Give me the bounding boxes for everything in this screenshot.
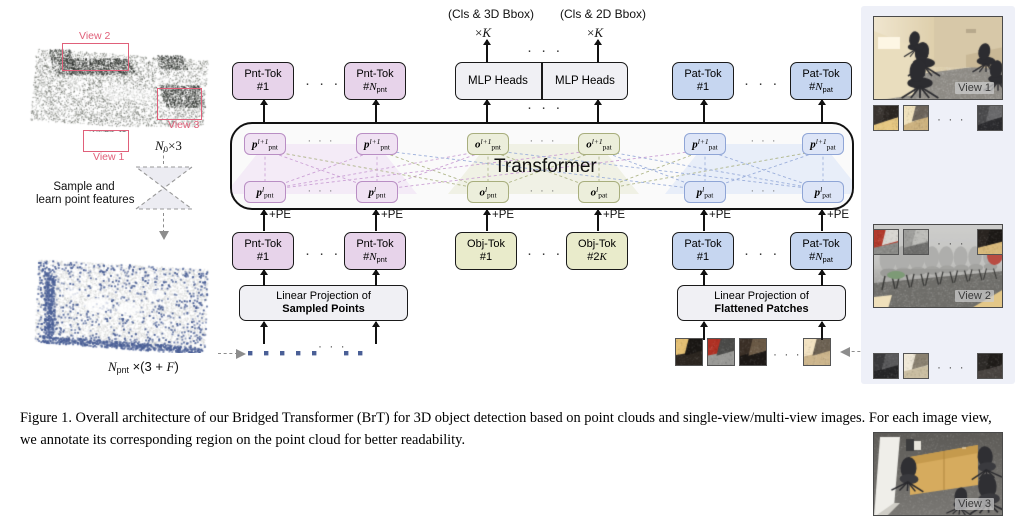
arrow-xf-to-pnttok-1 (263, 100, 265, 122)
pe-label-6: +PE (827, 209, 849, 222)
bottom-token-obj-2K-index: #2K (587, 251, 607, 264)
pe-label-1: +PE (269, 209, 291, 222)
view-2-patch-ellipsis: · · · (937, 237, 966, 249)
mlp-left-output-label: (Cls & 3D Bbox) (448, 8, 534, 22)
bottom-pnt-ellipsis: · · · (305, 246, 341, 261)
pe-arrow-2 (375, 210, 377, 231)
arrow-mlp-left-out (486, 40, 488, 62)
view-1-patch-1 (873, 105, 899, 131)
arrow-proj-to-pat1 (703, 270, 705, 286)
svg-text:· · ·: · · · (750, 135, 777, 147)
transformer-lower-token-4: olpat (578, 181, 620, 203)
pe-arrow-3 (486, 210, 488, 231)
sampled-points-row (246, 346, 366, 360)
sample-text-line1: Sample and (36, 181, 132, 194)
view-1-patch-ellipsis: · · · (937, 113, 966, 125)
view2-region-box (62, 43, 129, 71)
sampled-point-cloud (28, 243, 218, 353)
view-3-patch-3 (977, 353, 1003, 379)
arrow-xf-to-mlp-left (486, 100, 488, 122)
pe-arrow-6 (821, 210, 823, 231)
linear-projection-points[interactable]: Linear Projection of Sampled Points (239, 285, 408, 321)
view3-region-box (157, 88, 202, 120)
sample-text: Sample and learn point features (36, 181, 132, 207)
view-3-patch-2 (903, 353, 929, 379)
bottom-token-obj-1[interactable]: Obj-Tok #1 (455, 232, 517, 270)
arrow-into-proj-points-2 (375, 322, 377, 344)
transformer-upper-token-3: ol+1pnt (467, 133, 509, 155)
mlp-top-ellipsis: · · · (527, 43, 563, 58)
pe-arrow-1 (263, 210, 265, 231)
svg-text:· · ·: · · · (750, 185, 777, 197)
pe-arrow-5 (703, 210, 705, 231)
bottom-token-pat-N[interactable]: Pat-Tok #Npat (790, 232, 852, 270)
svg-text:· · ·: · · · (529, 185, 556, 197)
bottom-token-pat-1[interactable]: Pat-Tok #1 (672, 232, 734, 270)
input-patch-3 (739, 338, 767, 366)
transformer-lower-token-3: olpnt (467, 181, 509, 203)
arrow-into-proj-patches-2 (821, 322, 823, 340)
bottom-token-obj-1-index: #1 (480, 251, 492, 264)
transformer-upper-token-1: pl+1pnt (244, 133, 286, 155)
mlp-bottom-ellipsis: · · · (527, 100, 563, 115)
transformer-lower-token-2: plpnt (356, 181, 398, 203)
linear-projection-points-line2: Sampled Points (282, 303, 365, 316)
bottom-token-pnt-1[interactable]: Pnt-Tok #1 (232, 232, 294, 270)
bottom-token-pnt-N-label: Pnt-Tok (356, 238, 393, 251)
bottom-token-pat-1-label: Pat-Tok (684, 238, 721, 251)
pe-label-2: +PE (381, 209, 403, 222)
linear-projection-points-line1: Linear Projection of (276, 290, 371, 303)
pe-label-5: +PE (709, 209, 731, 222)
arrow-proj-to-pnt1 (263, 270, 265, 286)
figure-caption: Figure 1. Overall architecture of our Br… (20, 408, 1006, 451)
bottom-pat-ellipsis: · · · (744, 246, 780, 261)
top-token-pat-N[interactable]: Pat-Tok #Npat (790, 62, 852, 100)
bottom-obj-ellipsis: · · · (527, 246, 563, 261)
sample-down-arrow (163, 213, 165, 239)
arrow-xf-to-pattok-N (821, 100, 823, 122)
bottom-token-pat-N-label: Pat-Tok (802, 238, 839, 251)
bottom-token-pnt-N[interactable]: Pnt-Tok #Npnt (344, 232, 406, 270)
svg-text:· · ·: · · · (529, 135, 556, 147)
linear-projection-patches[interactable]: Linear Projection of Flattened Patches (677, 285, 846, 321)
top-token-pat-1[interactable]: Pat-Tok #1 (672, 62, 734, 100)
transformer-upper-token-5: pl+1pat (684, 133, 726, 155)
pe-label-4: +PE (603, 209, 625, 222)
view1-region-box (83, 130, 129, 152)
bottom-token-obj-2K[interactable]: Obj-Tok #2K (566, 232, 628, 270)
view-3-tag: View 3 (955, 498, 994, 510)
view-3-patch-1 (873, 353, 899, 379)
arrow-xf-to-pnttok-N (375, 100, 377, 122)
view-1-patch-row: · · · (873, 105, 1003, 131)
bottom-token-pat-1-index: #1 (697, 251, 709, 264)
view-3-patch-ellipsis: · · · (937, 361, 966, 373)
pe-arrow-4 (597, 210, 599, 231)
top-token-pat-1-label: Pat-Tok (684, 68, 721, 81)
bottom-token-obj-1-label: Obj-Tok (467, 238, 505, 251)
view-2-patch-row: · · · (873, 229, 1003, 255)
mlp-heads-group: MLP Heads MLP Heads (455, 62, 628, 100)
top-token-pnt-N-label: Pnt-Tok (356, 68, 393, 81)
points-flow-arrow (218, 353, 244, 355)
sample-hourglass (132, 163, 196, 213)
view-2-tag: View 2 (955, 290, 994, 302)
pe-label-3: +PE (492, 209, 514, 222)
top-token-pnt-1-label: Pnt-Tok (244, 68, 281, 81)
view-2-patch-3 (977, 229, 1003, 255)
top-token-pat-1-index: #1 (697, 81, 709, 94)
view3-region-label: View 3 (168, 119, 199, 131)
top-pat-ellipsis: · · · (744, 76, 780, 91)
bottom-token-pnt-N-index: #Npnt (363, 251, 387, 265)
bottom-shape-label: Npnt ×(3 + F) (108, 360, 179, 375)
transformer-upper-token-4: ol+1pat (578, 133, 620, 155)
transformer-upper-token-2: pl+1pnt (356, 133, 398, 155)
svg-text:· · ·: · · · (307, 135, 334, 147)
input-patch-1 (675, 338, 703, 366)
linear-projection-patches-line1: Linear Projection of (714, 290, 809, 303)
top-pnt-ellipsis: · · · (305, 76, 341, 91)
mlp-heads-right[interactable]: MLP Heads (542, 62, 628, 100)
top-token-pnt-N[interactable]: Pnt-Tok #Npnt (344, 62, 406, 100)
view-3-patch-row: · · · (873, 353, 1003, 379)
mlp-left-multiplier: ×K (475, 26, 491, 41)
transformer-lower-token-1: plpnt (244, 181, 286, 203)
top-token-pnt-1[interactable]: Pnt-Tok #1 (232, 62, 294, 100)
mlp-heads-left[interactable]: MLP Heads (455, 62, 541, 100)
transformer-upper-token-6: pl+1pat (802, 133, 844, 155)
linear-projection-patches-line2: Flattened Patches (714, 303, 808, 316)
transformer-title: Transformer (494, 156, 597, 178)
arrow-xf-to-mlp-right (597, 100, 599, 122)
transformer-lower-token-5: plpat (684, 181, 726, 203)
arrow-into-proj-patches-1 (703, 322, 705, 340)
sample-text-line2: learn point features (36, 194, 132, 207)
arrow-mlp-right-out (597, 40, 599, 62)
input-patch-4 (803, 338, 831, 366)
view-1-tag: View 1 (955, 82, 994, 94)
view-1-patch-3 (977, 105, 1003, 131)
arrow-xf-to-pattok-1 (703, 100, 705, 122)
view-1-image[interactable]: View 1 (873, 16, 1003, 100)
transformer-lower-token-6: plpat (802, 181, 844, 203)
input-patch-ellipsis: · · · (773, 348, 802, 360)
arrow-proj-to-patN (821, 270, 823, 286)
bottom-token-pnt-1-label: Pnt-Tok (244, 238, 281, 251)
views-panel: View 1 · · · View 2 · · · View 3 · · · (861, 6, 1015, 384)
mlp-right-multiplier: ×K (587, 26, 603, 41)
hourglass-top-connector (163, 150, 164, 164)
mlp-right-output-label: (Cls & 2D Bbox) (560, 8, 646, 22)
top-shape-label: N0×3 (155, 139, 182, 154)
input-patch-2 (707, 338, 735, 366)
view-2-patch-1 (873, 229, 899, 255)
top-token-pat-N-index: #Npat (809, 81, 833, 95)
image-patch-row: · · · (675, 338, 835, 368)
top-token-pnt-1-index: #1 (257, 81, 269, 94)
sampled-points-ellipsis: · · · (318, 340, 347, 352)
view-1-patch-2 (903, 105, 929, 131)
figure-root: View 2 View 3 View 1 N0×3 Sample and lea… (0, 0, 1024, 467)
view2-region-label: View 2 (79, 30, 110, 42)
transformer-block: · · ·· · ·· · ·· · ·· · ·· · · Transform… (230, 122, 854, 210)
svg-text:· · ·: · · · (307, 185, 334, 197)
bottom-token-pat-N-index: #Npat (809, 251, 833, 265)
arrow-into-proj-points-1 (263, 322, 265, 344)
top-token-pnt-N-index: #Npnt (363, 81, 387, 95)
view1-region-label: View 1 (93, 151, 124, 163)
view-2-patch-2 (903, 229, 929, 255)
top-token-pat-N-label: Pat-Tok (802, 68, 839, 81)
bottom-token-pnt-1-index: #1 (257, 251, 269, 264)
arrow-proj-to-pntN (375, 270, 377, 286)
bottom-token-obj-2K-label: Obj-Tok (578, 238, 616, 251)
